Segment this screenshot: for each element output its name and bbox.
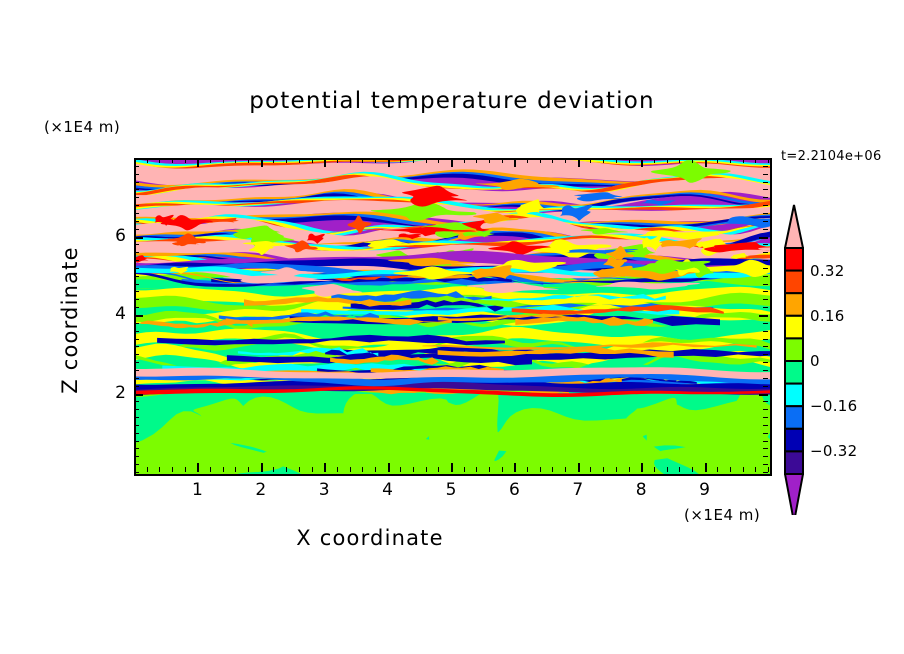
tick-mark: [763, 409, 768, 410]
tick-mark: [134, 315, 143, 317]
tick-mark: [185, 467, 186, 472]
tick-mark: [768, 158, 769, 163]
tick-mark: [476, 158, 477, 163]
tick-mark: [350, 158, 351, 163]
tick-mark: [375, 158, 376, 163]
tick-mark: [261, 463, 263, 472]
tick-mark: [464, 467, 465, 472]
tick-mark: [755, 158, 756, 163]
tick-mark: [134, 425, 139, 426]
tick-mark: [134, 299, 139, 300]
tick-mark: [235, 158, 236, 163]
tick-mark: [134, 331, 139, 332]
tick-mark: [763, 268, 768, 269]
tick-mark: [705, 158, 707, 167]
tick-mark: [185, 158, 186, 163]
colorbar-band: [785, 361, 803, 384]
tick-mark: [134, 291, 139, 292]
x-axis-title: X coordinate: [0, 526, 740, 550]
tick-mark: [763, 197, 768, 198]
tick-mark: [134, 182, 139, 183]
tick-mark: [426, 467, 427, 472]
tick-mark: [514, 158, 516, 167]
x-tick-label: 5: [436, 480, 466, 500]
tick-mark: [489, 158, 490, 163]
tick-mark: [273, 467, 274, 472]
tick-mark: [705, 463, 707, 472]
tick-mark: [763, 339, 768, 340]
tick-mark: [763, 205, 768, 206]
tick-mark: [134, 417, 139, 418]
tick-mark: [324, 158, 326, 167]
tick-mark: [717, 158, 718, 163]
tick-mark: [134, 229, 139, 230]
tick-mark: [629, 158, 630, 163]
tick-mark: [502, 467, 503, 472]
tick-mark: [134, 268, 139, 269]
y-axis-unit-label: (×1E4 m): [44, 118, 120, 136]
tick-mark: [388, 158, 390, 167]
tick-mark: [134, 244, 139, 245]
tick-mark: [223, 158, 224, 163]
tick-mark: [654, 158, 655, 163]
tick-mark: [273, 158, 274, 163]
tick-mark: [759, 394, 768, 396]
tick-mark: [590, 467, 591, 472]
tick-mark: [134, 362, 139, 363]
tick-mark: [730, 467, 731, 472]
tick-mark: [763, 284, 768, 285]
tick-mark: [763, 221, 768, 222]
tick-mark: [134, 284, 139, 285]
tick-mark: [763, 417, 768, 418]
colorbar-under-cap: [785, 474, 803, 515]
tick-mark: [679, 158, 680, 163]
tick-mark: [134, 205, 139, 206]
contour-field: [136, 160, 770, 474]
tick-mark: [763, 244, 768, 245]
tick-mark: [578, 158, 580, 167]
tick-mark: [763, 448, 768, 449]
tick-mark: [603, 467, 604, 472]
tick-mark: [286, 158, 287, 163]
tick-mark: [476, 467, 477, 472]
tick-mark: [134, 307, 139, 308]
tick-mark: [172, 158, 173, 163]
tick-mark: [763, 464, 768, 465]
tick-mark: [667, 158, 668, 163]
tick-mark: [763, 331, 768, 332]
colorbar-band: [785, 338, 803, 361]
x-tick-label: 9: [690, 480, 720, 500]
tick-mark: [134, 472, 139, 473]
tick-mark: [540, 467, 541, 472]
tick-mark: [590, 158, 591, 163]
tick-mark: [527, 158, 528, 163]
tick-mark: [489, 467, 490, 472]
x-axis-unit-label: (×1E4 m): [684, 506, 760, 524]
x-tick-label: 2: [246, 480, 276, 500]
tick-mark: [451, 158, 453, 167]
tick-mark: [286, 467, 287, 472]
tick-mark: [223, 467, 224, 472]
colorbar-tick-label: 0: [810, 352, 820, 370]
colorbar-tick-label: 0.32: [810, 262, 845, 280]
tick-mark: [514, 463, 516, 472]
tick-mark: [692, 158, 693, 163]
tick-mark: [197, 463, 199, 472]
tick-mark: [552, 158, 553, 163]
tick-mark: [210, 158, 211, 163]
tick-mark: [768, 467, 769, 472]
x-tick-label: 1: [182, 480, 212, 500]
tick-mark: [763, 307, 768, 308]
colorbar-band: [785, 316, 803, 339]
colorbar: [784, 203, 804, 515]
tick-mark: [763, 166, 768, 167]
tick-mark: [763, 229, 768, 230]
colorbar-band: [785, 293, 803, 316]
tick-mark: [362, 467, 363, 472]
tick-mark: [763, 260, 768, 261]
tick-mark: [763, 213, 768, 214]
tick-mark: [743, 158, 744, 163]
y-tick-label: 2: [96, 383, 126, 403]
colorbar-band: [785, 451, 803, 474]
tick-mark: [426, 158, 427, 163]
tick-mark: [616, 158, 617, 163]
tick-mark: [763, 346, 768, 347]
tick-mark: [763, 433, 768, 434]
tick-mark: [299, 467, 300, 472]
tick-mark: [763, 401, 768, 402]
y-tick-label: 4: [96, 304, 126, 324]
tick-mark: [134, 276, 139, 277]
tick-mark: [438, 467, 439, 472]
tick-mark: [134, 158, 139, 159]
tick-mark: [375, 467, 376, 472]
tick-mark: [337, 158, 338, 163]
tick-mark: [134, 409, 139, 410]
tick-mark: [464, 158, 465, 163]
tick-mark: [134, 221, 139, 222]
tick-mark: [134, 174, 139, 175]
tick-mark: [552, 467, 553, 472]
tick-mark: [134, 260, 139, 261]
tick-mark: [210, 467, 211, 472]
tick-mark: [134, 323, 139, 324]
tick-mark: [629, 467, 630, 472]
tick-mark: [565, 158, 566, 163]
tick-mark: [312, 467, 313, 472]
tick-mark: [134, 464, 139, 465]
tick-mark: [763, 276, 768, 277]
tick-mark: [763, 189, 768, 190]
tick-mark: [134, 346, 139, 347]
colorbar-swatches: [784, 203, 804, 515]
tick-mark: [667, 467, 668, 472]
tick-mark: [578, 463, 580, 472]
tick-mark: [413, 467, 414, 472]
tick-mark: [248, 467, 249, 472]
colorbar-tick-label: 0.16: [810, 307, 845, 325]
tick-mark: [134, 456, 139, 457]
tick-mark: [654, 467, 655, 472]
tick-mark: [763, 441, 768, 442]
tick-mark: [134, 386, 139, 387]
x-tick-label: 4: [373, 480, 403, 500]
tick-mark: [362, 158, 363, 163]
tick-mark: [502, 158, 503, 163]
tick-mark: [159, 158, 160, 163]
tick-mark: [759, 315, 768, 317]
tick-mark: [603, 158, 604, 163]
page-title: potential temperature deviation: [0, 88, 904, 114]
tick-mark: [763, 291, 768, 292]
tick-mark: [763, 370, 768, 371]
tick-mark: [134, 354, 139, 355]
colorbar-band: [785, 271, 803, 294]
tick-mark: [540, 158, 541, 163]
tick-mark: [692, 467, 693, 472]
tick-mark: [299, 158, 300, 163]
tick-mark: [763, 182, 768, 183]
tick-mark: [730, 158, 731, 163]
tick-mark: [248, 158, 249, 163]
colorbar-band: [785, 384, 803, 407]
tick-mark: [324, 463, 326, 472]
tick-mark: [763, 354, 768, 355]
tick-mark: [350, 467, 351, 472]
x-tick-label: 3: [309, 480, 339, 500]
tick-mark: [159, 467, 160, 472]
tick-mark: [400, 158, 401, 163]
tick-mark: [147, 467, 148, 472]
tick-mark: [451, 463, 453, 472]
tick-mark: [134, 394, 143, 396]
tick-mark: [197, 158, 199, 167]
tick-mark: [413, 158, 414, 163]
tick-mark: [616, 467, 617, 472]
tick-mark: [763, 425, 768, 426]
colorbar-band: [785, 429, 803, 452]
tick-mark: [641, 463, 643, 472]
tick-mark: [763, 174, 768, 175]
tick-mark: [134, 448, 139, 449]
tick-mark: [763, 299, 768, 300]
x-tick-label: 7: [563, 480, 593, 500]
tick-mark: [763, 378, 768, 379]
tick-mark: [172, 467, 173, 472]
tick-mark: [565, 467, 566, 472]
tick-mark: [337, 467, 338, 472]
tick-mark: [235, 467, 236, 472]
colorbar-tick-label: −0.16: [810, 397, 857, 415]
time-annotation: t=2.2104e+06: [781, 149, 882, 164]
tick-mark: [134, 252, 139, 253]
x-tick-label: 6: [499, 480, 529, 500]
tick-mark: [134, 237, 143, 239]
tick-mark: [400, 467, 401, 472]
y-axis-title: Z coordinate: [58, 210, 82, 430]
tick-mark: [438, 158, 439, 163]
tick-mark: [755, 467, 756, 472]
tick-mark: [641, 158, 643, 167]
tick-mark: [679, 467, 680, 472]
tick-mark: [388, 463, 390, 472]
tick-mark: [134, 339, 139, 340]
tick-mark: [763, 323, 768, 324]
tick-mark: [134, 166, 139, 167]
tick-mark: [134, 441, 139, 442]
tick-mark: [763, 472, 768, 473]
contour-plot-area: [134, 158, 772, 476]
figure-canvas: potential temperature deviation (×1E4 m)…: [0, 0, 904, 654]
tick-mark: [763, 158, 768, 159]
tick-mark: [134, 189, 139, 190]
tick-mark: [763, 386, 768, 387]
colorbar-tick-label: −0.32: [810, 442, 857, 460]
tick-mark: [759, 237, 768, 239]
tick-mark: [717, 467, 718, 472]
colorbar-band: [785, 248, 803, 271]
y-tick-label: 6: [96, 226, 126, 246]
colorbar-band: [785, 406, 803, 429]
tick-mark: [763, 362, 768, 363]
tick-mark: [134, 370, 139, 371]
tick-mark: [743, 467, 744, 472]
tick-mark: [763, 456, 768, 457]
tick-mark: [763, 252, 768, 253]
tick-mark: [527, 467, 528, 472]
tick-mark: [312, 158, 313, 163]
tick-mark: [134, 213, 139, 214]
tick-mark: [134, 401, 139, 402]
tick-mark: [147, 158, 148, 163]
colorbar-over-cap: [785, 205, 803, 248]
x-tick-label: 8: [626, 480, 656, 500]
tick-mark: [134, 433, 139, 434]
tick-mark: [134, 197, 139, 198]
tick-mark: [261, 158, 263, 167]
tick-mark: [134, 378, 139, 379]
